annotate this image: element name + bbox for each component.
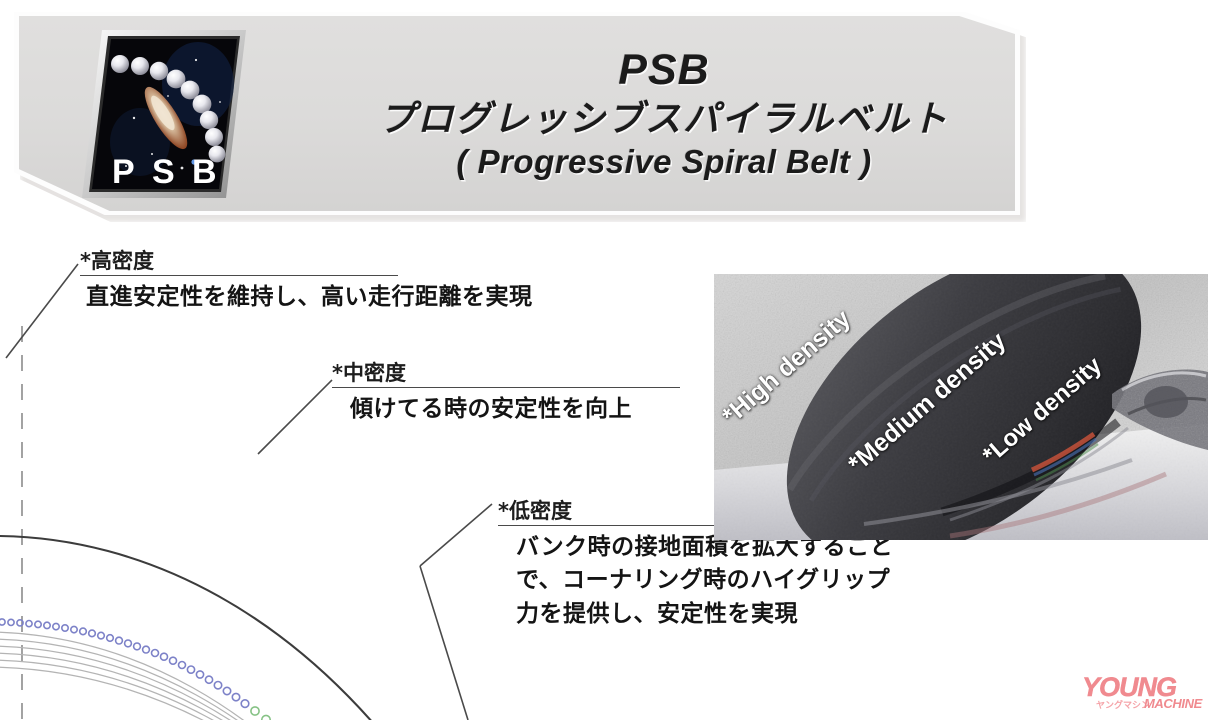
callout-low-body: バンク時の接地面積を拡大すること で、コーナリング時のハイグリップ 力を提供し、…: [516, 531, 968, 631]
belt-cord-row: [0, 619, 466, 720]
logo-letter-b: B: [192, 153, 217, 191]
callout-high-rule: [80, 275, 398, 276]
tire-contact-patch-photo: *High density *Medium density *Low densi…: [714, 274, 1208, 540]
callout-high-title: *高密度: [80, 250, 640, 273]
leader-lines: [6, 264, 492, 720]
title-psb: PSB: [618, 48, 709, 93]
callout-medium-rule: [332, 387, 680, 388]
callout-medium-density: *中密度 傾けてる時の安定性を向上: [332, 362, 732, 426]
header-banner: P S B PSB プログレッシブスパイラルベルト ( Progressive …: [14, 12, 1026, 222]
watermark-kana: ヤングマシン: [1096, 698, 1150, 711]
callout-medium-body: 傾けてる時の安定性を向上: [350, 393, 732, 426]
psb-logo: P S B: [78, 26, 250, 202]
logo-letter-p: P: [112, 153, 135, 191]
title-subtitle: ( Progressive Spiral Belt ): [456, 142, 871, 182]
callout-high-body: 直進安定性を維持し、高い走行距離を実現: [86, 281, 640, 314]
watermark-machine: MACHINE: [1144, 696, 1202, 711]
banner-title-group: PSB プログレッシブスパイラルベルト ( Progressive Spiral…: [314, 20, 1014, 210]
callout-high-density: *高密度 直進安定性を維持し、高い走行距離を実現: [80, 250, 640, 314]
young-machine-watermark: YOUNG ヤングマシン MACHINE: [1082, 672, 1208, 712]
logo-letter-s: S: [152, 153, 175, 191]
slide-canvas: P S B PSB プログレッシブスパイラルベルト ( Progressive …: [0, 0, 1218, 720]
title-katakana: プログレッシブスパイラルベルト: [379, 99, 949, 140]
callout-medium-title: *中密度: [332, 362, 732, 385]
tread-outer-curve: [0, 536, 430, 720]
